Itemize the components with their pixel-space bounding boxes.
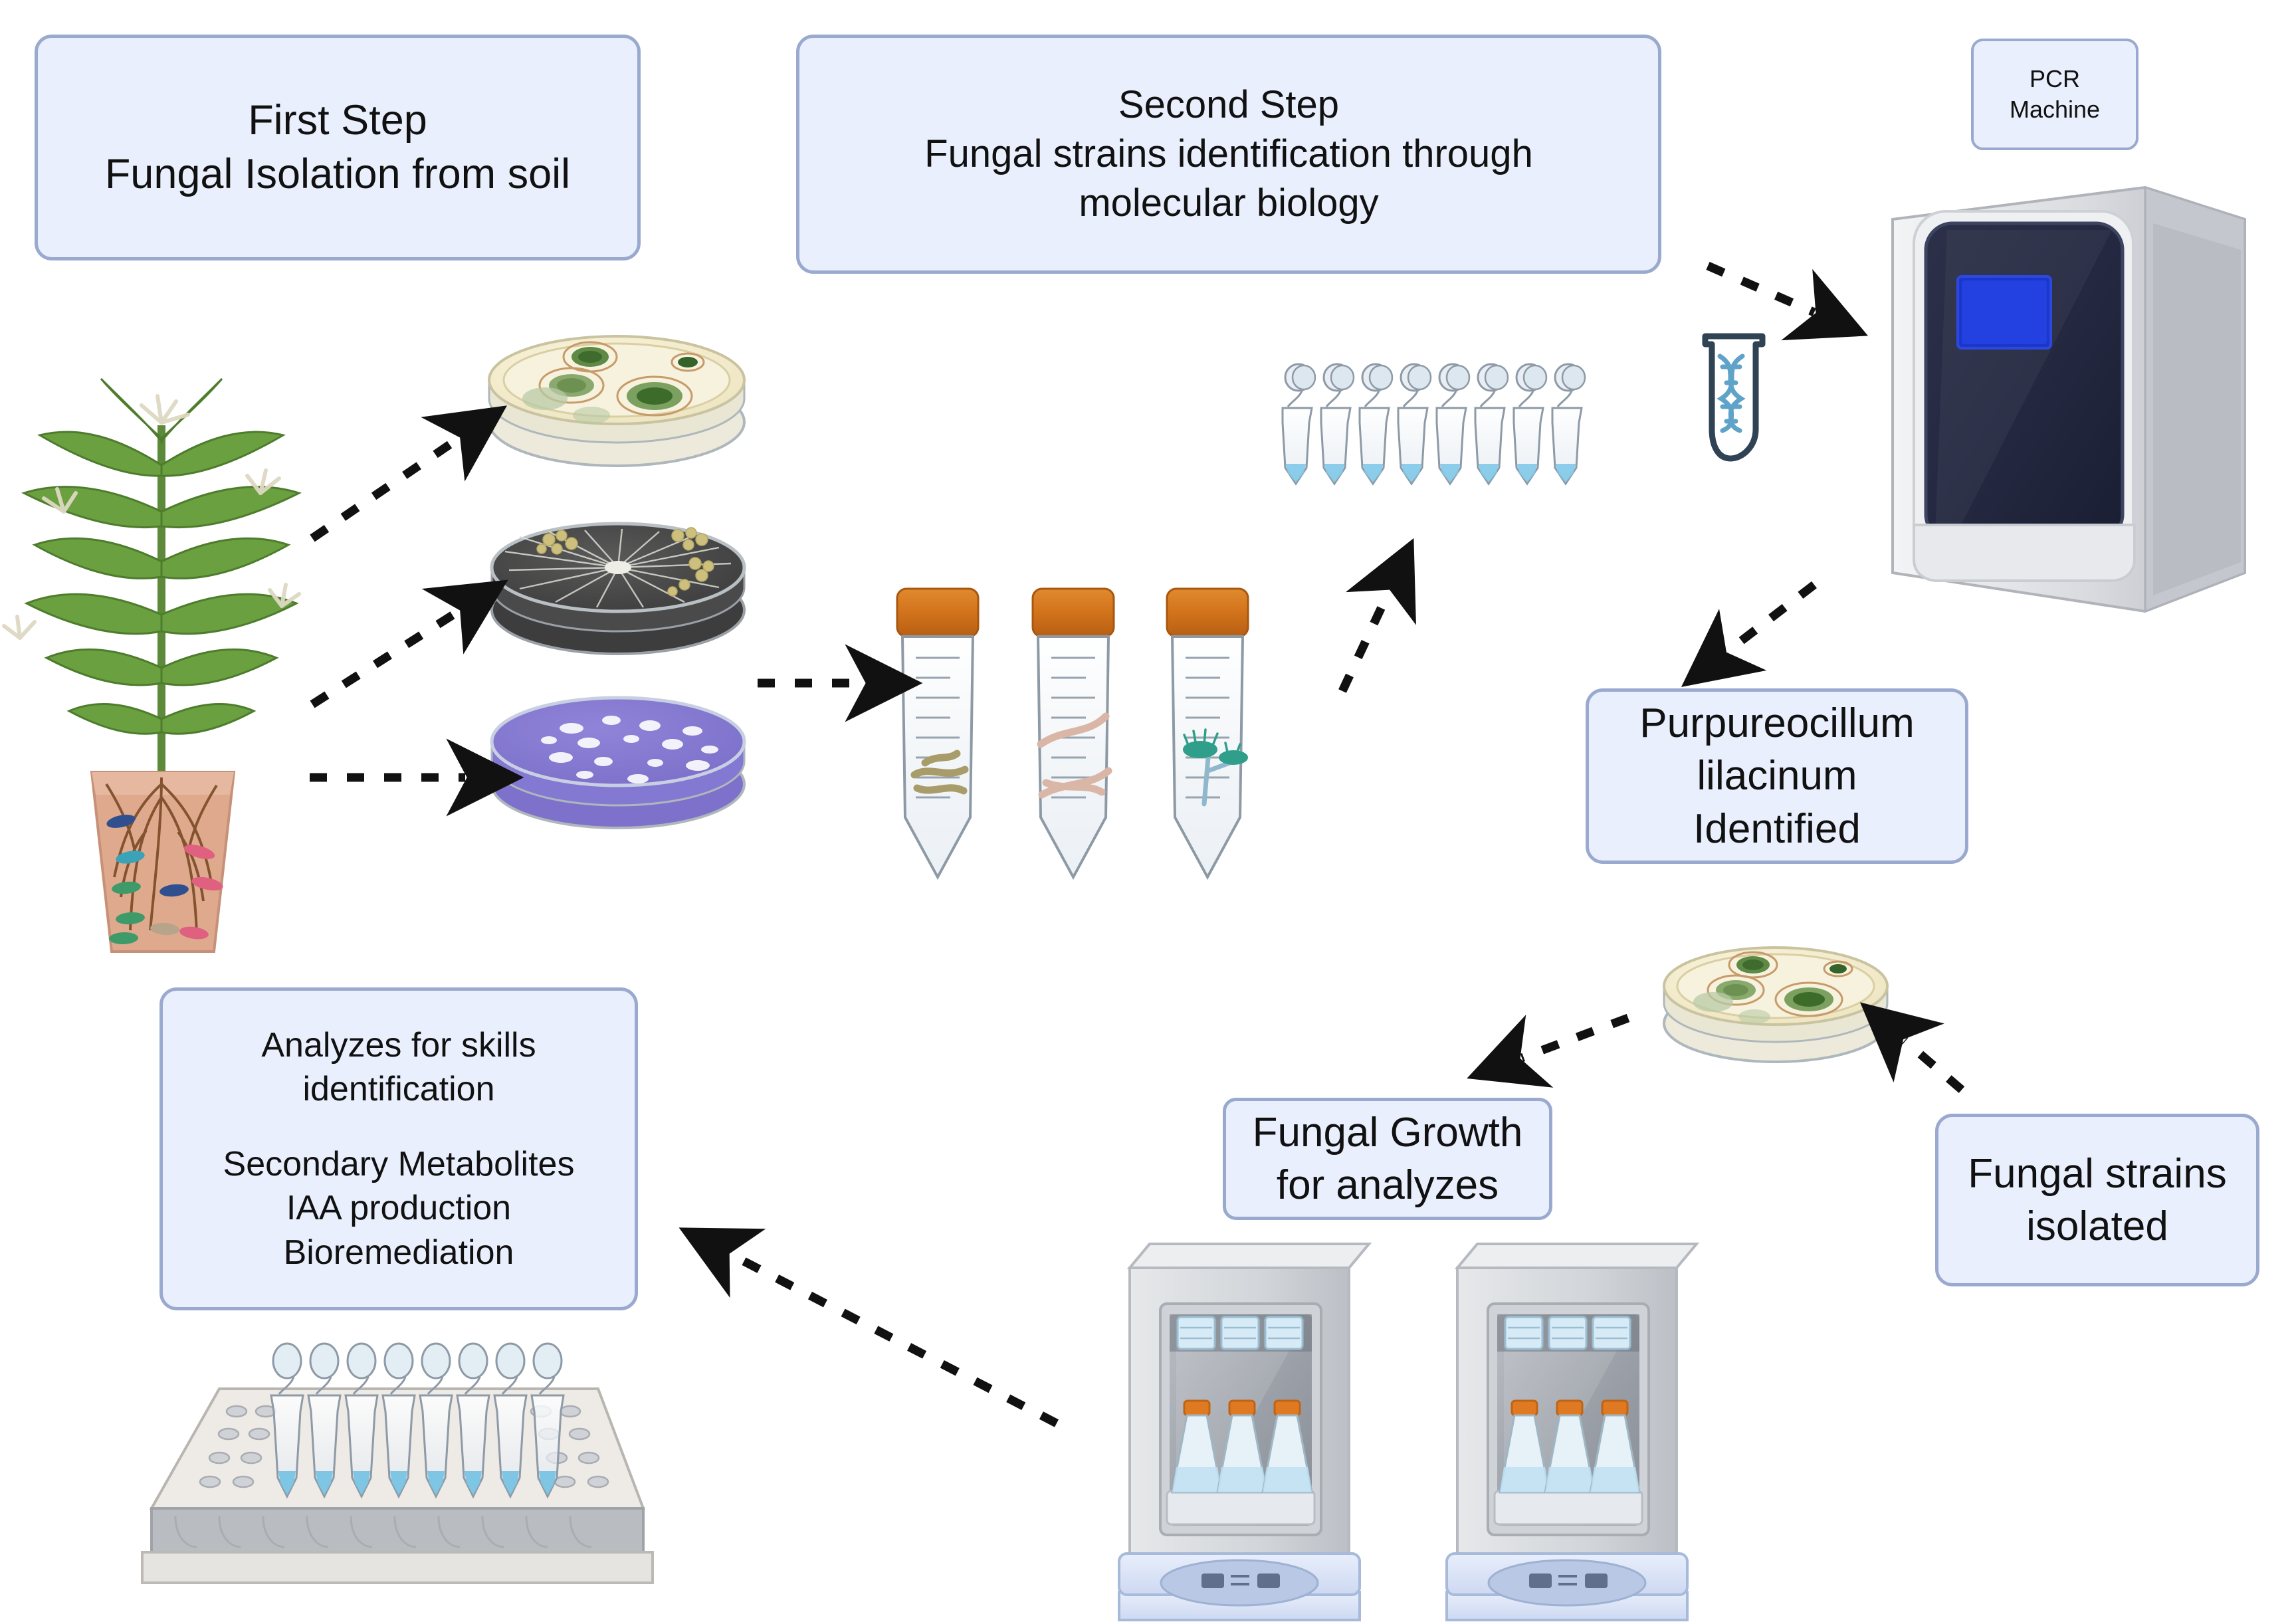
- pcr-thermocycler: [1893, 187, 2245, 611]
- pcr-tube-rack: [142, 1344, 653, 1583]
- workflow-diagram: First Step Fungal Isolation from soil Se…: [0, 0, 2294, 1624]
- arrow-plant-to-dark-dish: [312, 611, 459, 704]
- pcr-machine-line1: PCR: [2010, 64, 2100, 94]
- dna-vial-icon: [1705, 336, 1762, 458]
- first-step-line1: First Step: [105, 94, 570, 148]
- analyzes-line5: Bioremediation: [223, 1231, 575, 1275]
- analyzes-box[interactable]: Analyzes for skills identification Secon…: [159, 987, 638, 1310]
- analyzes-spacer: [223, 1112, 575, 1142]
- arrow-thermocycler-to-identified: [1728, 585, 1814, 651]
- petri-dish-dark: [492, 524, 744, 654]
- first-step-line2: Fungal Isolation from soil: [105, 148, 570, 201]
- second-step-line3: molecular biology: [924, 179, 1533, 228]
- analyzes-line1: Analyzes for skills: [223, 1023, 575, 1068]
- analyzes-line4: IAA production: [223, 1186, 575, 1231]
- arrow-plant-to-cream-dish: [312, 439, 459, 538]
- shaking-incubator-left: [1119, 1244, 1369, 1620]
- shaking-incubator-right: [1447, 1244, 1697, 1620]
- fungal-growth-line1: Fungal Growth: [1253, 1106, 1523, 1159]
- falcon-tube-2: [1033, 589, 1114, 877]
- identified-line3: Identified: [1639, 803, 1915, 855]
- arrow-incubators-to-analyzes: [731, 1255, 1057, 1423]
- fungal-growth-box[interactable]: Fungal Growth for analyzes: [1223, 1098, 1552, 1220]
- analyzes-line2: identification: [223, 1067, 575, 1112]
- identified-line2: lilacinum: [1639, 750, 1915, 802]
- petri-dish-growth: [1664, 948, 1887, 1062]
- potted-plant: [4, 379, 299, 952]
- petri-dish-cream: [489, 336, 744, 466]
- arrow-dna-to-thermocycler: [1708, 266, 1814, 312]
- pcr-tube-strip: [1283, 364, 1585, 484]
- arrow-isolated-to-growth-dish: [1905, 1041, 1962, 1090]
- fungal-growth-line2: for analyzes: [1253, 1159, 1523, 1211]
- identified-box[interactable]: Purpureocillum lilacinum Identified: [1586, 688, 1968, 864]
- second-step-box[interactable]: Second Step Fungal strains identificatio…: [796, 35, 1661, 274]
- identified-line1: Purpureocillum: [1639, 697, 1915, 750]
- petri-dish-purple: [492, 698, 744, 828]
- falcon-tube-1: [897, 589, 978, 877]
- arrow-growth-dish-to-incubators: [1522, 1018, 1628, 1058]
- second-step-line1: Second Step: [924, 80, 1533, 130]
- isolated-line2: isolated: [1968, 1200, 2226, 1253]
- analyzes-line3: Secondary Metabolites: [223, 1142, 575, 1187]
- pcr-machine-line2: Machine: [2010, 94, 2100, 125]
- first-step-box[interactable]: First Step Fungal Isolation from soil: [35, 35, 641, 260]
- falcon-tube-3: [1167, 589, 1248, 877]
- arrow-falcon-to-pcr-strip: [1342, 591, 1389, 691]
- isolated-line1: Fungal strains: [1968, 1148, 2226, 1200]
- fungal-strains-isolated-box[interactable]: Fungal strains isolated: [1935, 1114, 2259, 1286]
- pcr-machine-box[interactable]: PCR Machine: [1971, 39, 2138, 150]
- second-step-line2: Fungal strains identification through: [924, 130, 1533, 179]
